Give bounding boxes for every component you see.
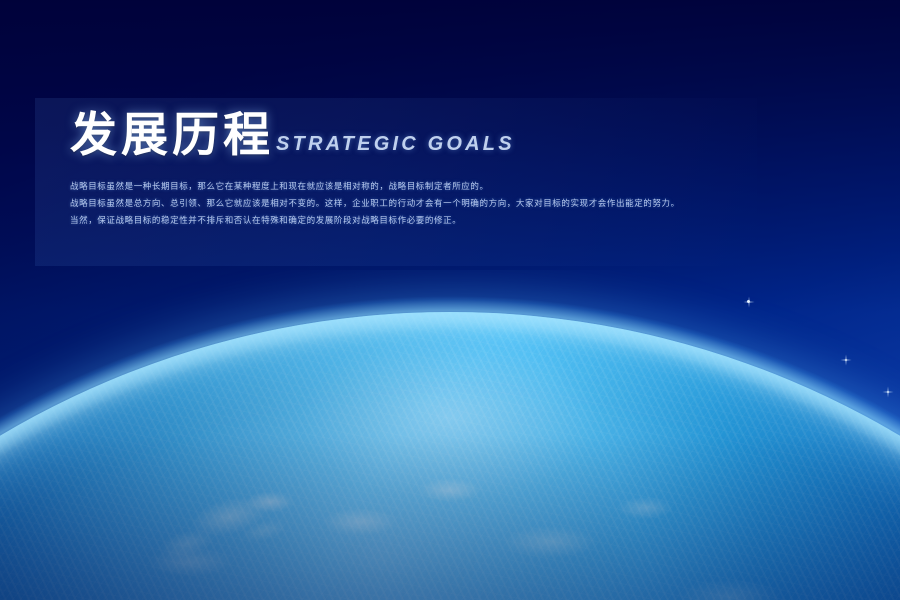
headline-block: 发展历程 STRATEGIC GOALS 战略目标虽然是一种长期目标，那么它在某… [70,112,770,232]
body-paragraph: 当然，保证战略目标的稳定性并不排斥和否认在特殊和确定的发展阶段对战略目标作必要的… [70,215,770,227]
earth-globe [0,270,900,600]
page-title: 发展历程 [70,112,274,159]
earth-atmosphere-glow [0,296,900,600]
body-paragraph: 战略目标虽然是总方向、总引领、那么它就应该是相对不变的。这样，企业职工的行动才会… [70,198,770,210]
body-text: 战略目标虽然是一种长期目标，那么它在某种程度上和现在就应该是相对称的，战略目标制… [70,181,770,227]
page-subtitle: STRATEGIC GOALS [276,133,515,156]
body-paragraph: 战略目标虽然是一种长期目标，那么它在某种程度上和现在就应该是相对称的，战略目标制… [70,181,770,193]
banner-stage: 发展历程 STRATEGIC GOALS 战略目标虽然是一种长期目标，那么它在某… [0,0,900,600]
title-row: 发展历程 STRATEGIC GOALS [70,112,770,159]
